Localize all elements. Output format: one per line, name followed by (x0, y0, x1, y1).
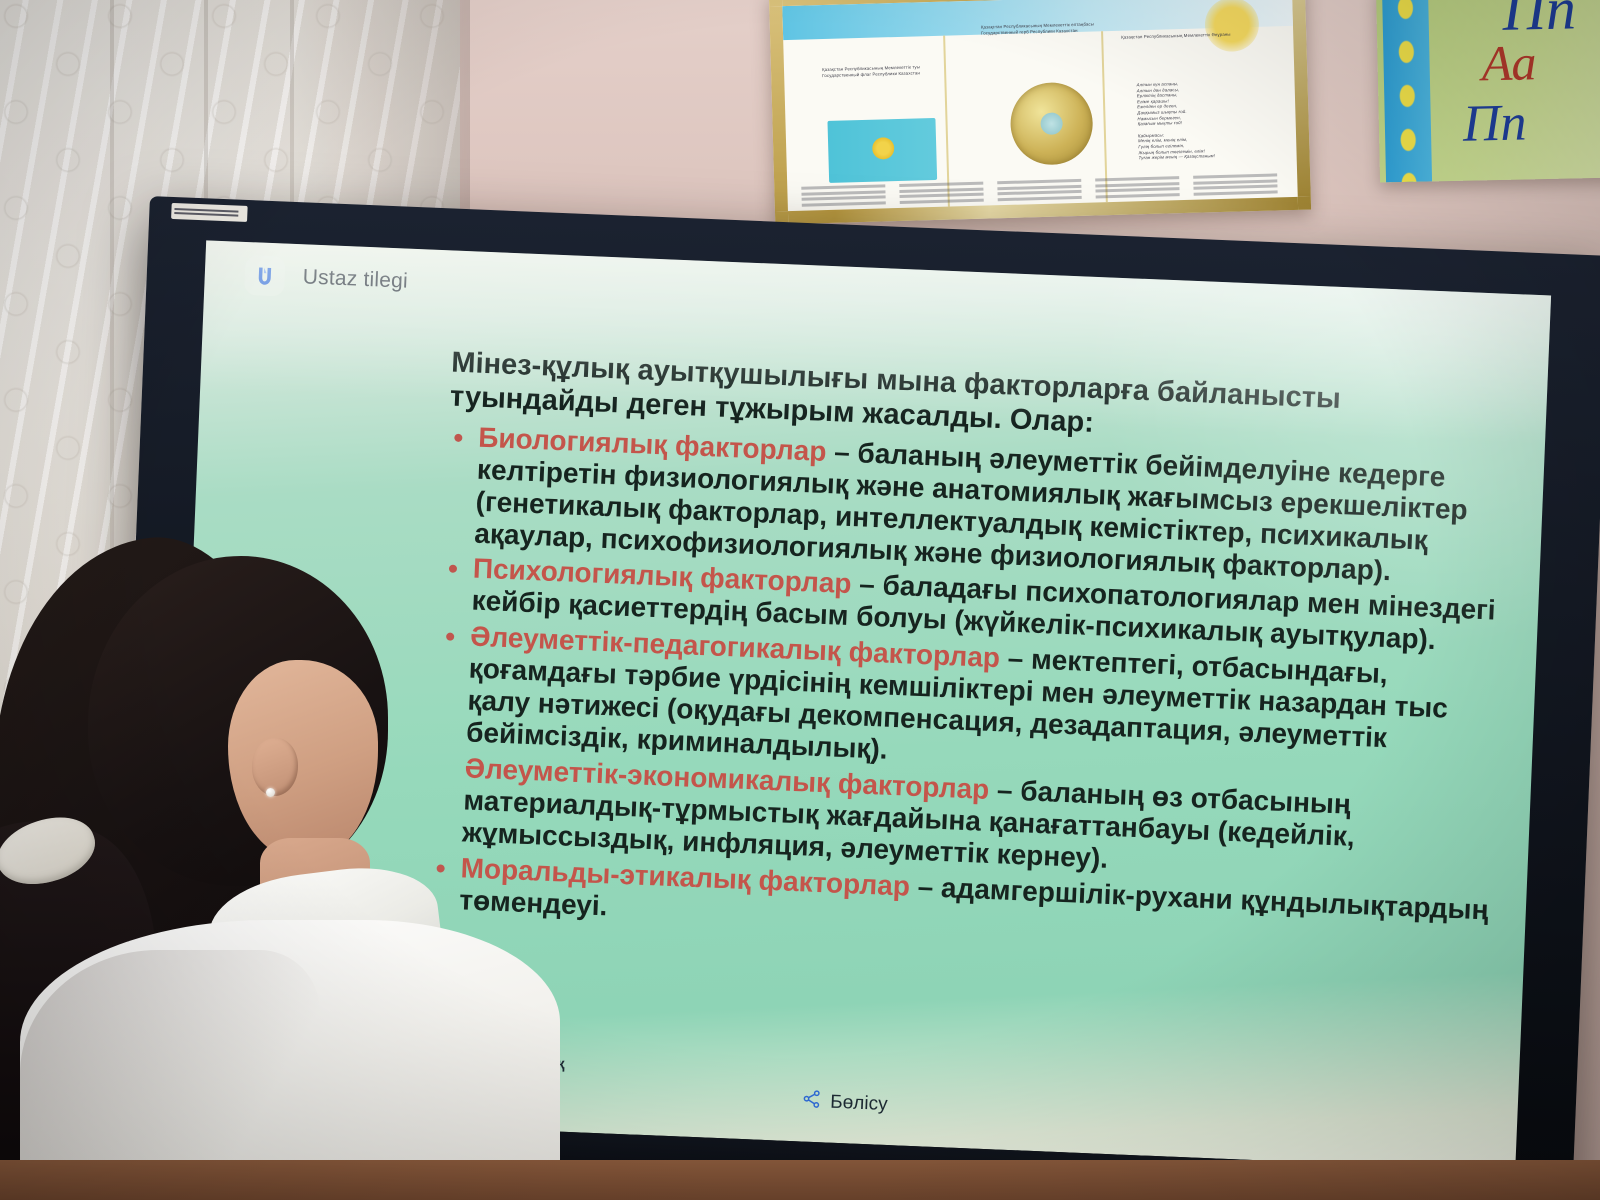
kazakhstan-emblem-image (1009, 82, 1093, 166)
app-title: Ustaz tilegi (302, 265, 408, 293)
ear (252, 738, 298, 796)
share-icon (801, 1088, 822, 1114)
ustaz-tilegi-logo-icon[interactable] (244, 255, 286, 297)
app-header: Ustaz tilegi (204, 240, 1552, 361)
share-label[interactable]: Бөлісу (830, 1091, 888, 1115)
poster-divider (1101, 31, 1108, 202)
floor-strip (0, 1160, 1600, 1200)
device-label-sticker (171, 203, 248, 222)
earring (266, 788, 275, 797)
anthem-text: Алтын күн аспаны, Алтын дән даласы, Ерлі… (1137, 80, 1216, 161)
cursive-alphabet-poster: Пп Аа Пп (1376, 0, 1600, 182)
kazakh-ornament (1390, 0, 1424, 182)
alphabet-letter: Аа (1481, 33, 1537, 92)
classroom-scene: Қазақстан Республикасының Мемлекеттік ту… (0, 0, 1600, 1200)
bullet-dot (454, 434, 462, 442)
kazakhstan-flag-image (827, 118, 937, 183)
flag-caption: Қазақстан Республикасының Мемлекеттік ту… (822, 64, 920, 78)
alphabet-letter: Пп (1462, 93, 1527, 153)
student-foreground (0, 520, 600, 1200)
poster-divider (943, 36, 950, 207)
kazakhstan-state-symbols-poster: Қазақстан Республикасының Мемлекеттік ту… (769, 0, 1311, 224)
emblem-caption: Қазақстан Республикасының Мемлекеттік ел… (981, 21, 1094, 35)
sun-icon (1204, 0, 1259, 52)
